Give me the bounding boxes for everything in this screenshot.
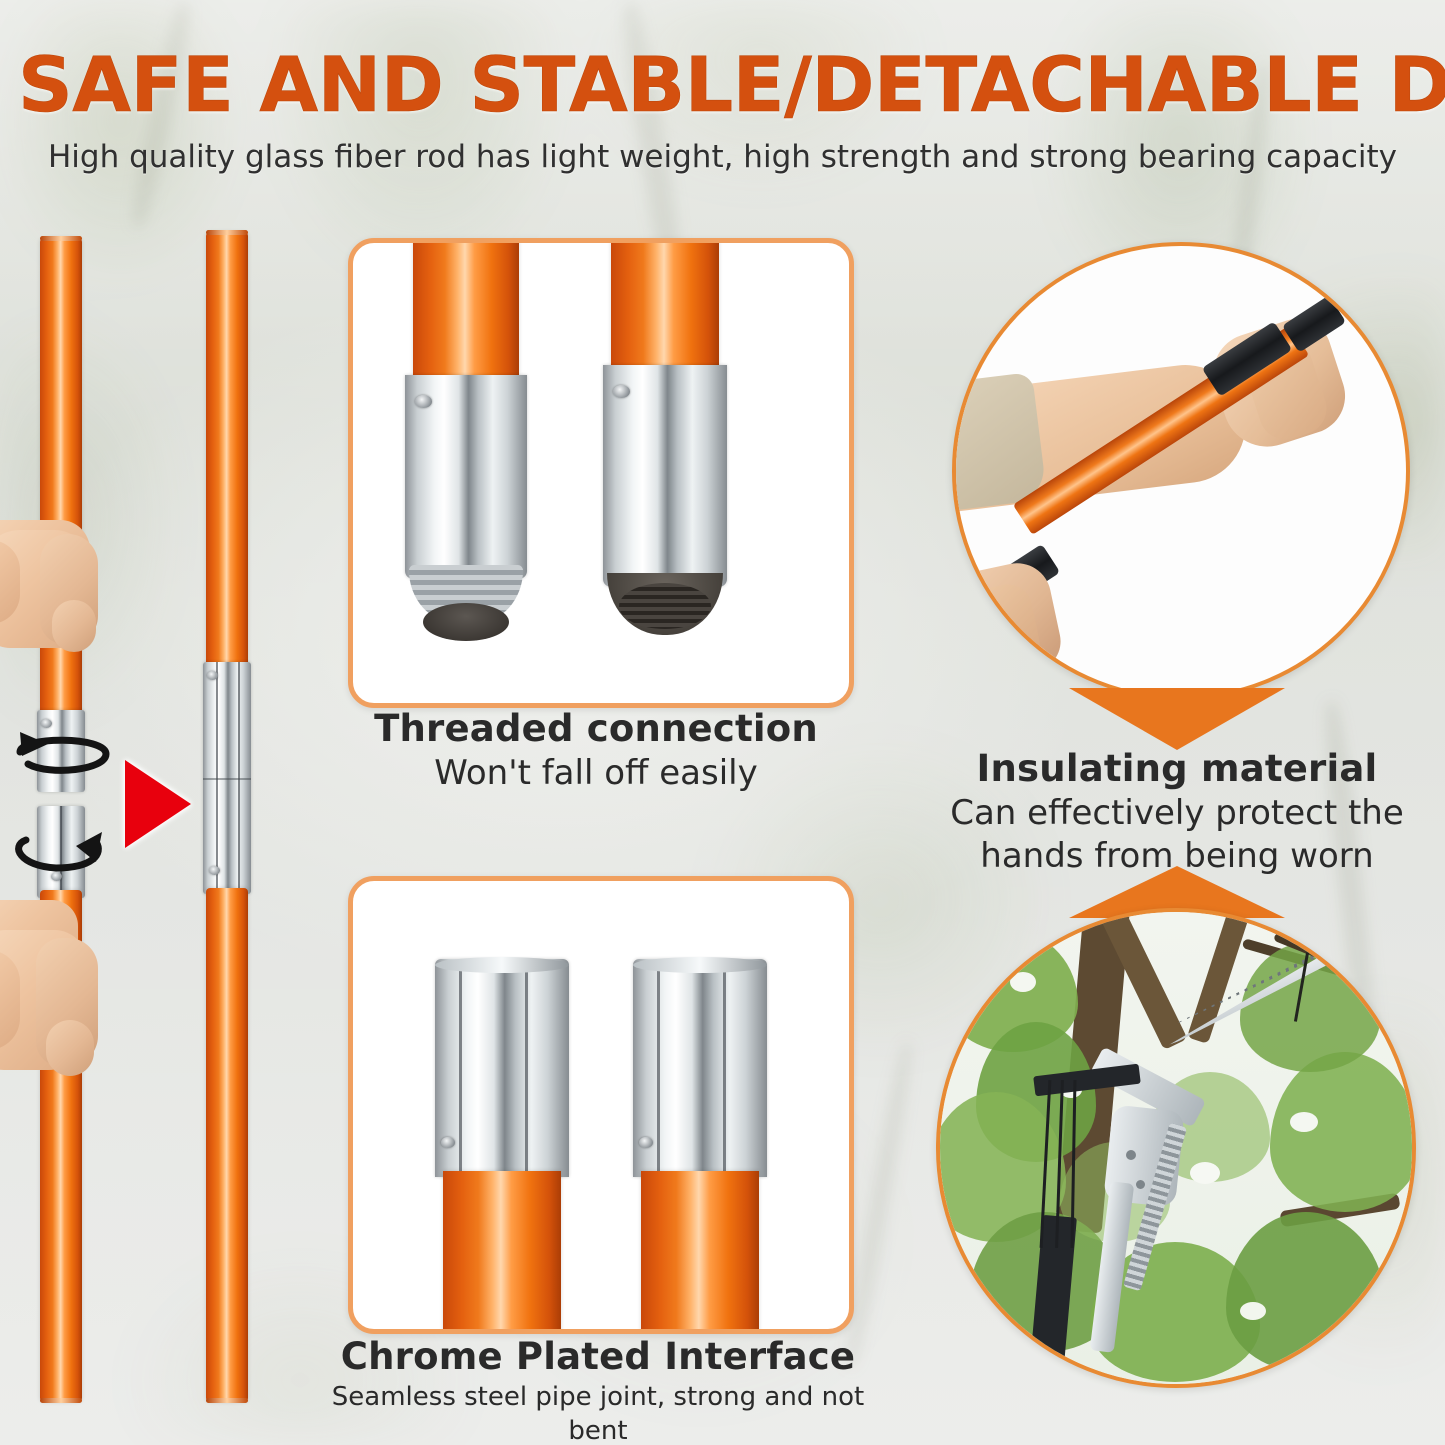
chrome-joint-seam (203, 778, 251, 780)
rod-lower-left-cap (40, 1398, 82, 1403)
threaded-connection-subtitle: Won't fall off easily (348, 752, 844, 795)
threaded-connection-panel (348, 238, 854, 708)
chrome-interface-caption: Chrome Plated Interface Seamless steel p… (330, 1334, 866, 1445)
joint-screw-bottom (209, 866, 220, 875)
insulating-material-title: Insulating material (930, 746, 1424, 792)
page-subtitle: High quality glass fiber rod has light w… (0, 138, 1445, 176)
insulating-material-photo (952, 242, 1410, 700)
insulating-material-pointer-down (1069, 688, 1285, 750)
product-infographic: SAFE AND STABLE/DETACHABLE DESIGN High q… (0, 0, 1445, 1445)
page-title: SAFE AND STABLE/DETACHABLE DESIGN (18, 46, 1430, 124)
right-arrow-icon (125, 760, 191, 848)
rod-upper-left (40, 238, 82, 738)
tree-pruner-photo (936, 908, 1416, 1388)
rotate-arrow-lower-icon (4, 818, 114, 880)
rod-assembled-upper (206, 232, 248, 668)
rotate-arrow-upper-icon (8, 724, 118, 786)
chrome-interface-title: Chrome Plated Interface (330, 1334, 866, 1380)
chrome-interface-subtitle: Seamless steel pipe joint, strong and no… (330, 1380, 866, 1445)
threaded-connection-title: Threaded connection (348, 706, 844, 752)
threaded-connection-caption: Threaded connection Won't fall off easil… (348, 706, 844, 795)
rod-assembled-lower-cap (206, 1398, 248, 1403)
chrome-interface-panel (348, 876, 854, 1334)
rod-assembled-lower (206, 888, 248, 1402)
insulating-material-caption: Insulating material Can effectively prot… (930, 746, 1424, 878)
rod-upper-left-cap (40, 236, 82, 241)
rod-assembled-cap (206, 230, 248, 235)
joint-screw-top (207, 671, 218, 680)
